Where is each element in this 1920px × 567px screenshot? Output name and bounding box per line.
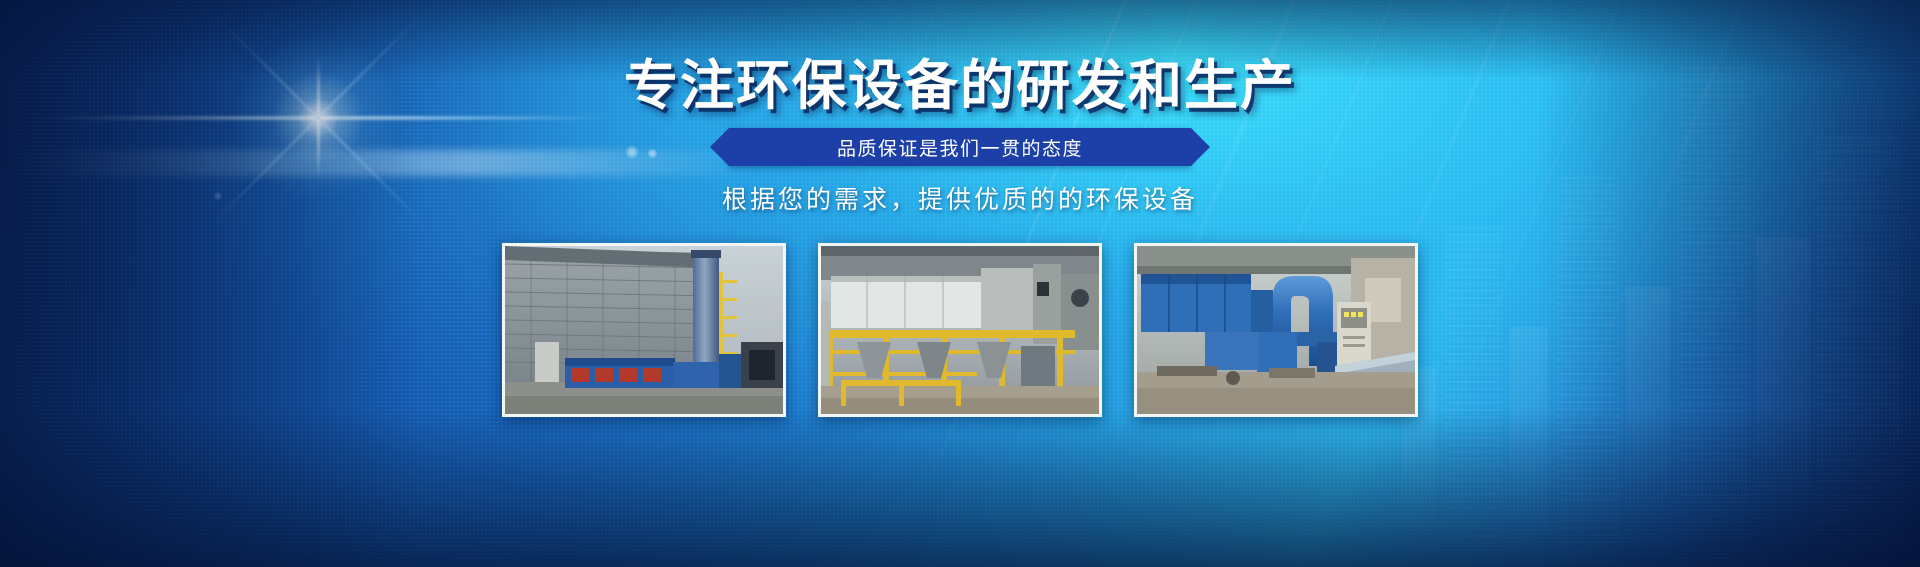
ribbon-label: 品质保证是我们一贯的态度 [837, 134, 1083, 161]
quality-ribbon: 品质保证是我们一贯的态度 [729, 128, 1191, 166]
photo-2-artwork [821, 246, 1099, 414]
ribbon-container: 品质保证是我们一贯的态度 [0, 128, 1920, 166]
photo-catalytic-rco-unit[interactable] [818, 243, 1102, 417]
photo-1-artwork [505, 246, 783, 414]
photo-workshop-exterior-dust-collector[interactable] [502, 243, 786, 417]
photo-blue-dust-collector-system[interactable] [1134, 243, 1418, 417]
product-photo-gallery [0, 243, 1920, 417]
banner-tagline: 根据您的需求，提供优质的的环保设备 [0, 180, 1920, 216]
banner-content: 专注环保设备的研发和生产 品质保证是我们一贯的态度 根据您的需求，提供优质的的环… [0, 0, 1920, 567]
photo-3-artwork [1137, 246, 1415, 414]
promo-banner: 专注环保设备的研发和生产 品质保证是我们一贯的态度 根据您的需求，提供优质的的环… [0, 0, 1920, 567]
banner-headline: 专注环保设备的研发和生产 [0, 58, 1920, 115]
